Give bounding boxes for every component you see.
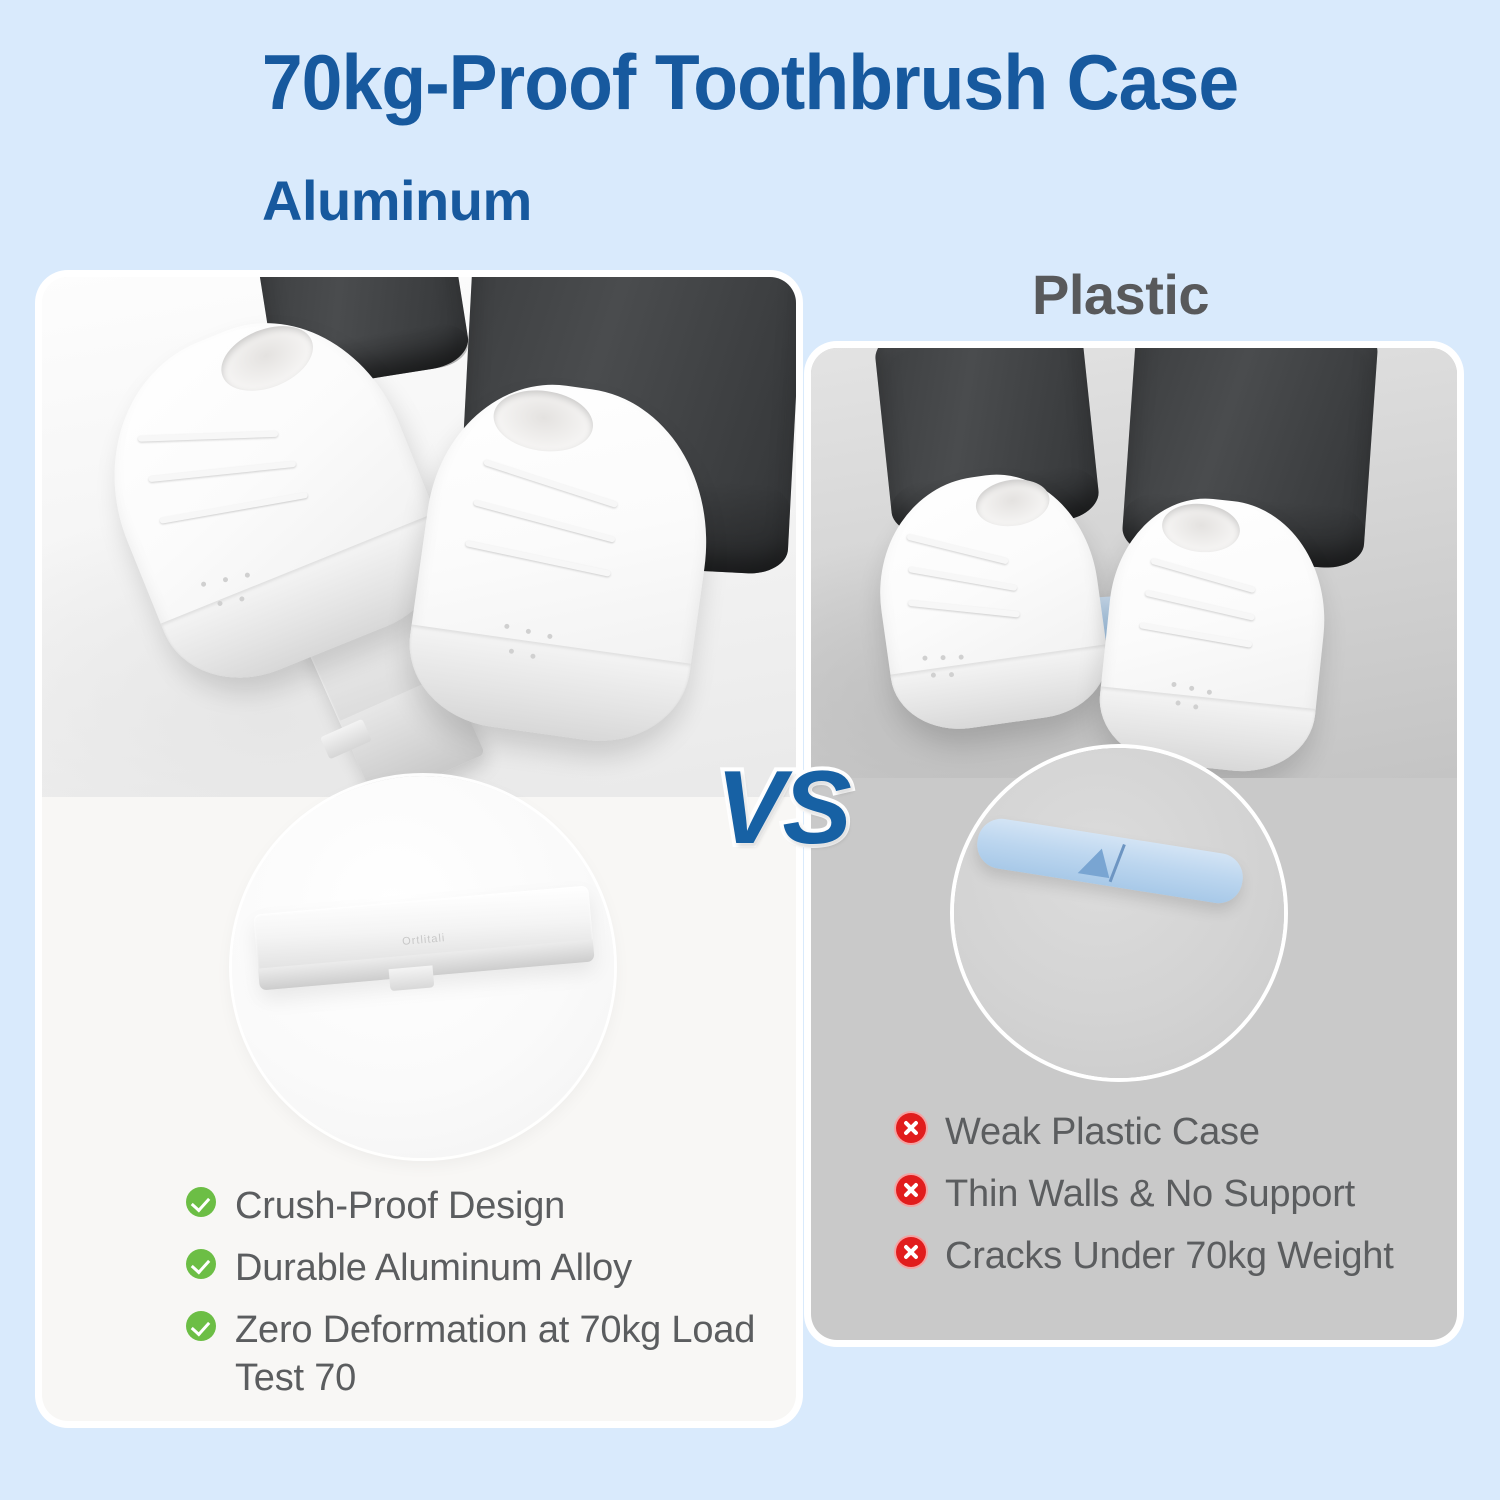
sneaker-left-lace-2 (908, 566, 1017, 591)
plastic-case-closeup (974, 815, 1247, 906)
sneaker-right-perf (1189, 686, 1194, 691)
sneaker-right-perf (547, 634, 553, 640)
plastic-heading: Plastic (1032, 262, 1209, 328)
aluminum-case-brand-label: Ortlitali (402, 932, 446, 948)
plastic-crack-closeup-icon (1078, 845, 1114, 878)
sneaker-left-lace-3 (908, 600, 1020, 618)
sneaker-left-lace-2 (148, 461, 296, 482)
plastic-product-photo (811, 348, 1457, 778)
cross-circle-icon (896, 1175, 926, 1205)
sneaker-left-lace-1 (906, 534, 1008, 565)
sneaker-right-lace-2 (473, 499, 616, 543)
sneaker-right-lace-3 (1139, 622, 1252, 648)
vs-badge: VS (716, 756, 849, 860)
sneaker-left-perf (922, 655, 928, 661)
list-item: Zero Deformation at 70kg Load Test 70 (186, 1306, 756, 1402)
sneaker-right-perf (1171, 682, 1176, 687)
sneaker-right-collar (1160, 500, 1243, 556)
sneaker-left-lace-3 (159, 492, 308, 524)
feature-label: Durable Aluminum Alloy (235, 1244, 632, 1292)
sneaker-left-perf (940, 655, 946, 661)
list-item: Thin Walls & No Support (896, 1170, 1436, 1218)
list-item: Weak Plastic Case (896, 1108, 1436, 1156)
plastic-case-closeup-inset (954, 748, 1284, 1078)
check-circle-icon (186, 1249, 216, 1279)
plastic-feature-list: Weak Plastic Case Thin Walls & No Suppor… (896, 1108, 1436, 1280)
sneaker-left-lace-1 (138, 431, 278, 442)
feature-label: Zero Deformation at 70kg Load Test 70 (235, 1306, 756, 1402)
feature-label: Crush-Proof Design (235, 1182, 565, 1230)
sneaker-right-perf (1207, 689, 1212, 694)
aluminum-panel: Ortlitali Crush-Proof Design Durable Alu… (42, 277, 796, 1421)
aluminum-case-clip (389, 965, 435, 991)
list-item: Crush-Proof Design (186, 1182, 756, 1230)
sneaker-left-perf (958, 654, 964, 660)
aluminum-case-closeup: Ortlitali (253, 886, 594, 991)
plastic-panel: Weak Plastic Case Thin Walls & No Suppor… (811, 348, 1457, 1340)
cross-circle-icon (896, 1237, 926, 1267)
feature-label: Weak Plastic Case (945, 1108, 1260, 1156)
feature-label: Cracks Under 70kg Weight (945, 1232, 1394, 1280)
sneaker-right-lace-2 (1145, 590, 1255, 621)
sneaker-left-perf (200, 581, 207, 588)
aluminum-case-closeup-inset: Ortlitali (232, 776, 614, 1158)
sneaker-right-lace-3 (465, 540, 611, 577)
aluminum-feature-list: Crush-Proof Design Durable Aluminum Allo… (186, 1182, 756, 1402)
sneaker-left-perf (244, 572, 251, 579)
cross-circle-icon (896, 1113, 926, 1143)
infographic-canvas: 70kg-Proof Toothbrush Case Aluminum Plas… (0, 0, 1500, 1500)
aluminum-product-photo (42, 277, 796, 797)
sneaker-left-perf (222, 576, 229, 583)
sneaker-right-lace-1 (483, 459, 618, 508)
sneaker-right-lace-1 (1150, 558, 1255, 594)
list-item: Cracks Under 70kg Weight (896, 1232, 1436, 1280)
list-item: Durable Aluminum Alloy (186, 1244, 756, 1292)
check-circle-icon (186, 1311, 216, 1341)
aluminum-heading: Aluminum (262, 168, 532, 234)
page-title: 70kg-Proof Toothbrush Case (45, 36, 1455, 128)
feature-label: Thin Walls & No Support (945, 1170, 1355, 1218)
sneaker-right-collar (490, 384, 597, 457)
sneaker-right-perf (526, 629, 532, 635)
sneaker-right-perf (504, 623, 510, 629)
check-circle-icon (186, 1187, 216, 1217)
